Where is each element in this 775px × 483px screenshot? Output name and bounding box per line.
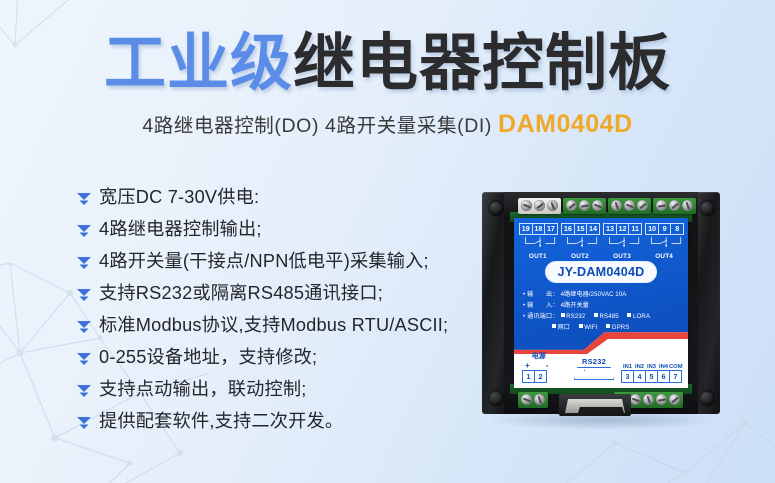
chevron-down-icon (74, 224, 94, 238)
serial-label: RS232 (574, 357, 614, 366)
port-name: LORA (633, 313, 650, 320)
mount-hole-icon (488, 390, 504, 406)
terminal-number: 10 (645, 223, 659, 235)
spec-row-ports2: 网口 WIFI GPRS (523, 323, 682, 332)
terminal-number: 2 (534, 370, 547, 383)
feature-text: 标准Modbus协议,支持Modbus RTU/ASCII; (99, 314, 448, 337)
output-label: OUT3 (603, 253, 641, 260)
input-terminal-group: IN1 IN2 IN3 IN4 COM 3 4 5 6 7 (621, 364, 681, 383)
mount-hole-icon (488, 200, 504, 216)
db9-outline-icon (574, 367, 614, 380)
power-terminal-group: 电源 + - 1 2 (522, 351, 556, 383)
spec-row: • 输 出： 4路继电器/250VAC 10A (523, 290, 682, 299)
screw-icon (566, 200, 577, 211)
model-number: DAM0404D (498, 110, 633, 138)
port-option: RS485 (594, 312, 619, 321)
screw-icon (669, 394, 680, 405)
checkbox-icon (579, 324, 583, 328)
spec-row: • 输 入： 4路开关量 (523, 301, 682, 310)
feature-text: 4路开关量(干接点/NPN低电平)采集输入; (99, 250, 429, 273)
port-name: RS485 (600, 313, 619, 320)
label-lower-area: 电源 + - 1 2 RS232 IN1 I (514, 356, 688, 388)
bullet-dot-icon: • (523, 312, 525, 321)
list-item: 4路开关量(干接点/NPN低电平)采集输入; (74, 250, 474, 273)
output-label: OUT4 (645, 253, 683, 260)
checkbox-icon (561, 313, 565, 317)
screw-icon (521, 394, 532, 405)
terminal-number: 16 (561, 223, 575, 235)
terminal-block (518, 198, 561, 214)
list-item: 标准Modbus协议,支持Modbus RTU/ASCII; (74, 314, 474, 337)
title-highlight: 工业级 (104, 29, 293, 98)
device-model-badge: JY-DAM0404D (545, 261, 656, 283)
feature-text: 0-255设备地址，支持修改; (99, 346, 317, 369)
output-group: 13 12 11 OUT3 (603, 223, 641, 255)
terminal-number: 7 (669, 370, 682, 383)
mount-hole-icon (699, 200, 715, 216)
feature-text: 支持RS232或隔离RS485通讯接口; (99, 282, 383, 305)
device-label: 19 18 17 OUT1 (514, 218, 688, 388)
screw-icon (656, 200, 667, 211)
screw-icon (579, 200, 590, 211)
screw-icon (534, 394, 545, 405)
checkbox-icon (606, 324, 610, 328)
page-title: 工业级继电器控制板 (0, 32, 775, 96)
checkbox-icon (627, 313, 631, 317)
list-item: 宽压DC 7-30V供电: (74, 186, 474, 209)
output-label: OUT1 (519, 253, 557, 260)
title-block: 工业级继电器控制板 4路继电器控制(DO) 4路开关量采集(DI) DAM040… (0, 32, 775, 139)
terminal-block (563, 198, 606, 214)
product-banner: 工业级继电器控制板 4路继电器控制(DO) 4路开关量采集(DI) DAM040… (0, 0, 775, 483)
terminal-number: 17 (544, 223, 558, 235)
list-item: 支持RS232或隔离RS485通讯接口; (74, 282, 474, 305)
spec-value: 4路开关量 (561, 301, 589, 310)
screw-icon (682, 200, 693, 211)
feature-list: 宽压DC 7-30V供电: 4路继电器控制输出; 4路开关量(干接点/NPN低电… (74, 186, 474, 443)
output-group: 16 15 14 OUT2 (561, 223, 599, 255)
port-name: RS232 (566, 313, 585, 320)
screw-icon (547, 200, 558, 211)
terminal-block (653, 198, 696, 214)
checkbox-icon (552, 324, 556, 328)
device-spec-list: • 输 出： 4路继电器/250VAC 10A • 输 入： 4路开关量 • 通… (523, 290, 682, 334)
terminal-number: 14 (586, 223, 600, 235)
terminal-number: 13 (603, 223, 617, 235)
terminal-number: 19 (519, 223, 533, 235)
chevron-down-icon (74, 320, 94, 334)
relay-board-device: 19 18 17 OUT1 (482, 186, 720, 418)
spec-row-ports: • 通讯端口： RS232 RS485 LORA (523, 312, 682, 321)
terminal-block (608, 198, 651, 214)
spec-value: 4路继电器/250VAC 10A (561, 290, 627, 299)
ports-key: 通讯端口： (527, 312, 558, 321)
port-option: GPRS (606, 323, 629, 332)
bullet-dot-icon: • (523, 301, 525, 310)
screw-icon (611, 200, 622, 211)
power-polarity: + - (522, 361, 556, 370)
list-item: 支持点动输出，联动控制; (74, 378, 474, 401)
spec-key: 输 出： (527, 290, 558, 299)
terminal-number: 15 (574, 223, 588, 235)
list-item: 0-255设备地址，支持修改; (74, 346, 474, 369)
feature-text: 提供配套软件,支持二次开发。 (99, 410, 343, 433)
mount-hole-icon (699, 390, 715, 406)
bullet-dot-icon: • (523, 290, 525, 299)
power-label: 电源 (522, 351, 556, 361)
list-item: 4路继电器控制输出; (74, 218, 474, 241)
subtitle: 4路继电器控制(DO) 4路开关量采集(DI) DAM0404D (0, 109, 775, 139)
port-option: WIFI (579, 323, 598, 332)
output-terminal-diagram: 19 18 17 OUT1 (519, 223, 683, 255)
spec-key: 输 入： (527, 301, 558, 310)
terminal-number: 9 (658, 223, 672, 235)
screw-icon (643, 394, 654, 405)
chevron-down-icon (74, 384, 94, 398)
feature-text: 支持点动输出，联动控制; (99, 378, 307, 401)
chevron-down-icon (74, 352, 94, 366)
screw-icon (630, 394, 641, 405)
chevron-down-icon (74, 256, 94, 270)
feature-text: 宽压DC 7-30V供电: (99, 186, 259, 209)
output-group: 10 9 8 OUT4 (645, 223, 683, 255)
terminal-number: 18 (532, 223, 546, 235)
output-group: 19 18 17 OUT1 (519, 223, 557, 255)
port-name: WIFI (584, 324, 597, 331)
product-photo: 19 18 17 OUT1 (470, 182, 740, 432)
port-option: 网口 (552, 323, 570, 332)
serial-port-marking: RS232 (574, 357, 614, 380)
screw-icon (637, 200, 648, 211)
screw-icon (521, 200, 532, 211)
relay-contact-symbol-icon (603, 237, 645, 248)
screw-icon (534, 200, 545, 211)
terminal-strip-top (518, 198, 696, 214)
db9-serial-connector (559, 394, 631, 416)
terminal-number: 8 (670, 223, 684, 235)
terminal-block (518, 392, 548, 408)
chevron-down-icon (74, 192, 94, 206)
title-main: 继电器控制板 (293, 29, 671, 98)
chevron-down-icon (74, 288, 94, 302)
checkbox-icon (594, 313, 598, 317)
port-option: LORA (627, 312, 650, 321)
relay-contact-symbol-icon (645, 237, 687, 248)
terminal-number: 11 (628, 223, 642, 235)
subtitle-text: 4路继电器控制(DO) 4路开关量采集(DI) (142, 115, 492, 137)
relay-contact-symbol-icon (519, 237, 561, 248)
screw-icon (592, 200, 603, 211)
screw-icon (669, 200, 680, 211)
db9-shell (565, 399, 625, 413)
relay-contact-symbol-icon (561, 237, 603, 248)
port-option: RS232 (561, 312, 586, 321)
screw-icon (624, 200, 635, 211)
feature-text: 4路继电器控制输出; (99, 218, 262, 241)
device-model-text: JY-DAM0404D (558, 265, 645, 279)
db9-port (577, 407, 625, 416)
chevron-down-icon (74, 416, 94, 430)
output-label: OUT2 (561, 253, 599, 260)
port-name: 网口 (558, 324, 570, 331)
terminal-number: 12 (616, 223, 630, 235)
screw-icon (656, 394, 667, 405)
list-item: 提供配套软件,支持二次开发。 (74, 410, 474, 433)
port-name: GPRS (612, 324, 630, 331)
